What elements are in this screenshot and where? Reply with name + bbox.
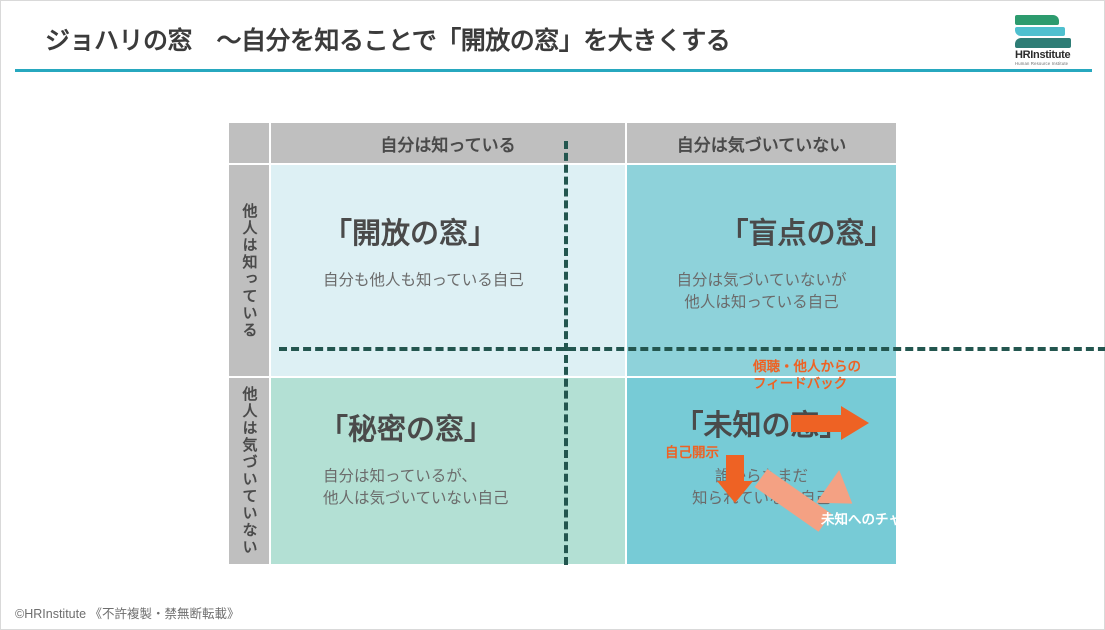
arrow-right-shaft — [791, 415, 843, 432]
logo-wordmark: HRInstitute — [1015, 49, 1077, 61]
quadrant-blind-description-line1: 自分は気づいていないが — [627, 270, 896, 292]
page-title: ジョハリの窓 〜自分を知ることで「開放の窓」を大きくする — [45, 21, 730, 57]
quadrant-open-title: 「開放の窓」 — [323, 210, 497, 252]
quadrant-hidden-description-line1: 自分は知っているが、 — [323, 466, 509, 488]
arrow-right-feedback-icon — [791, 406, 869, 440]
quadrant-blind-window: 「盲点の窓」 自分は気づいていないが 他人は知っている自己 — [627, 165, 896, 376]
quadrant-hidden-window: 「秘密の窓」 自分は知っているが、 他人は気づいていない自己 — [271, 378, 625, 564]
column-header-self-known: 自分は知っている — [271, 123, 625, 163]
row-header-others-unknown: 他人は気づいていない — [229, 378, 269, 564]
annotation-feedback: 傾聴・他人からの フィードバック — [753, 359, 861, 393]
quadrant-open-window: 「開放の窓」 自分も他人も知っている自己 — [271, 165, 625, 376]
logo-tagline: Human Resource Institute — [1015, 61, 1077, 66]
column-header-self-unknown: 自分は気づいていない — [627, 123, 896, 163]
quadrant-open-description: 自分も他人も知っている自己 — [323, 270, 524, 292]
arrow-down-shaft — [726, 455, 744, 483]
copyright-footer: ©HRInstitute 《不許複製・禁無断転載》 — [15, 603, 240, 622]
arrow-diagonal-challenge-icon — [763, 455, 893, 515]
annotation-self-disclosure: 自己開示 — [665, 445, 719, 462]
quadrant-blind-description-line2: 他人は知っている自己 — [627, 292, 896, 314]
annotation-challenge: 未知へのチャレンジ — [821, 508, 942, 528]
logo-bar-teal-icon — [1015, 38, 1071, 48]
horizontal-dashed-divider — [279, 347, 1105, 351]
slide-canvas: ジョハリの窓 〜自分を知ることで「開放の窓」を大きくする HRInstitute… — [0, 0, 1105, 630]
quadrant-hidden-description-line2: 他人は気づいていない自己 — [323, 488, 509, 510]
arrow-right-head — [841, 406, 869, 440]
hrinstitute-logo: HRInstitute Human Resource Institute — [1015, 15, 1077, 65]
quadrant-hidden-title: 「秘密の窓」 — [319, 406, 493, 448]
annotation-feedback-line1: 傾聴・他人からの — [753, 359, 861, 376]
quadrant-blind-description: 自分は気づいていないが 他人は知っている自己 — [627, 270, 896, 315]
quadrant-blind-title: 「盲点の窓」 — [672, 210, 941, 252]
arrow-down-disclosure-icon — [717, 455, 753, 501]
logo-bar-green-icon — [1015, 15, 1059, 25]
title-divider-rule — [15, 69, 1092, 72]
logo-bar-cyan-icon — [1015, 27, 1065, 36]
row-header-others-unknown-label: 他人は気づいていない — [242, 386, 257, 556]
row-header-others-known-label: 他人は知っている — [242, 203, 257, 339]
vertical-dashed-divider — [564, 141, 568, 565]
slide-header: ジョハリの窓 〜自分を知ることで「開放の窓」を大きくする — [15, 11, 1092, 69]
matrix-corner-cell — [229, 123, 269, 163]
row-header-others-known: 他人は知っている — [229, 165, 269, 376]
arrow-down-head — [717, 481, 753, 503]
johari-window-matrix: 自分は知っている 自分は気づいていない 他人は知っている 他人は気づいていない … — [229, 123, 896, 564]
quadrant-hidden-description: 自分は知っているが、 他人は気づいていない自己 — [323, 466, 509, 511]
annotation-feedback-line2: フィードバック — [753, 376, 861, 393]
